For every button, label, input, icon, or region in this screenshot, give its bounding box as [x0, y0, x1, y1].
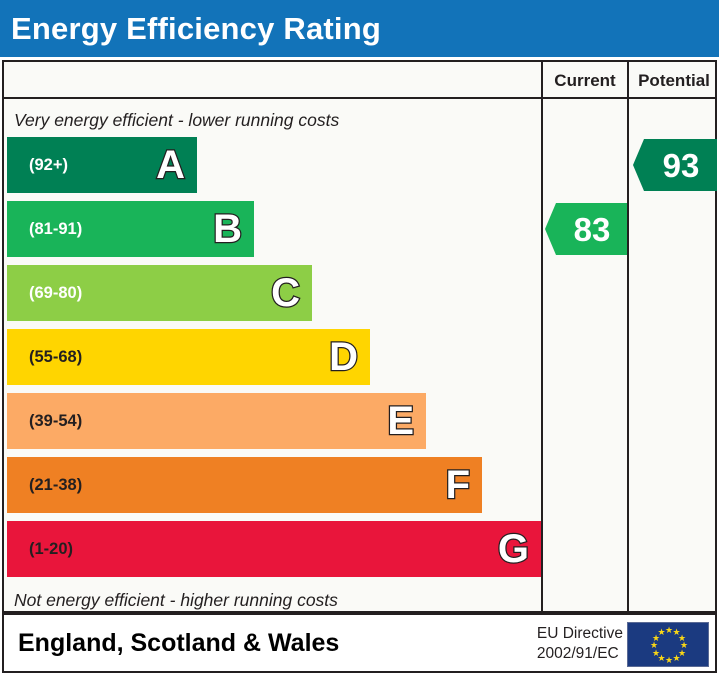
column-header-potential: Potential — [629, 71, 719, 91]
column-header-row: Current Potential — [4, 62, 715, 99]
rating-band-g: (1-20)G — [7, 521, 541, 577]
caption-efficient: Very energy efficient - lower running co… — [14, 110, 339, 131]
footer-region-label: England, Scotland & Wales — [4, 629, 339, 658]
body-divider-current — [541, 99, 543, 613]
rating-band-e: (39-54)E — [7, 393, 426, 449]
body-divider-potential — [627, 99, 629, 613]
rating-arrow-potential: 93 — [633, 139, 717, 191]
band-letter-b: B — [213, 209, 242, 249]
rating-table: Current Potential Very energy efficient … — [2, 60, 717, 613]
band-range-d: (55-68) — [7, 348, 82, 367]
rating-bands: (92+)A(81-91)B(69-80)C(55-68)D(39-54)E(2… — [7, 137, 541, 587]
footer-directive: EU Directive 2002/91/EC — [537, 624, 623, 665]
footer-directive-line1: EU Directive — [537, 624, 623, 644]
caption-not-efficient: Not energy efficient - higher running co… — [14, 590, 338, 611]
band-letter-c: C — [271, 273, 300, 313]
band-letter-a: A — [156, 145, 185, 185]
rating-value-current: 83 — [562, 213, 611, 246]
band-range-e: (39-54) — [7, 412, 82, 431]
rating-band-d: (55-68)D — [7, 329, 370, 385]
rating-band-a: (92+)A — [7, 137, 197, 193]
rating-band-c: (69-80)C — [7, 265, 312, 321]
band-letter-e: E — [387, 401, 414, 441]
band-range-f: (21-38) — [7, 476, 82, 495]
band-range-b: (81-91) — [7, 220, 82, 239]
rating-value-potential: 93 — [651, 149, 700, 182]
rating-band-f: (21-38)F — [7, 457, 482, 513]
rating-arrow-current: 83 — [545, 203, 627, 255]
rating-band-b: (81-91)B — [7, 201, 254, 257]
footer: England, Scotland & Wales EU Directive 2… — [2, 613, 717, 673]
band-range-c: (69-80) — [7, 284, 82, 303]
band-range-g: (1-20) — [7, 540, 73, 559]
band-range-a: (92+) — [7, 156, 68, 175]
band-letter-d: D — [329, 337, 358, 377]
footer-directive-line2: 2002/91/EC — [537, 644, 623, 664]
chart-header: Energy Efficiency Rating — [0, 0, 719, 57]
band-letter-g: G — [498, 529, 529, 569]
band-letter-f: F — [446, 465, 470, 505]
page-title: Energy Efficiency Rating — [0, 13, 381, 44]
eu-flag-icon: ★★★★★★★★★★★★ — [627, 622, 709, 667]
energy-efficiency-rating-certificate: Energy Efficiency Rating Current Potenti… — [0, 0, 719, 675]
column-header-current: Current — [543, 71, 627, 91]
eu-flag-star-icon: ★ — [657, 628, 666, 637]
